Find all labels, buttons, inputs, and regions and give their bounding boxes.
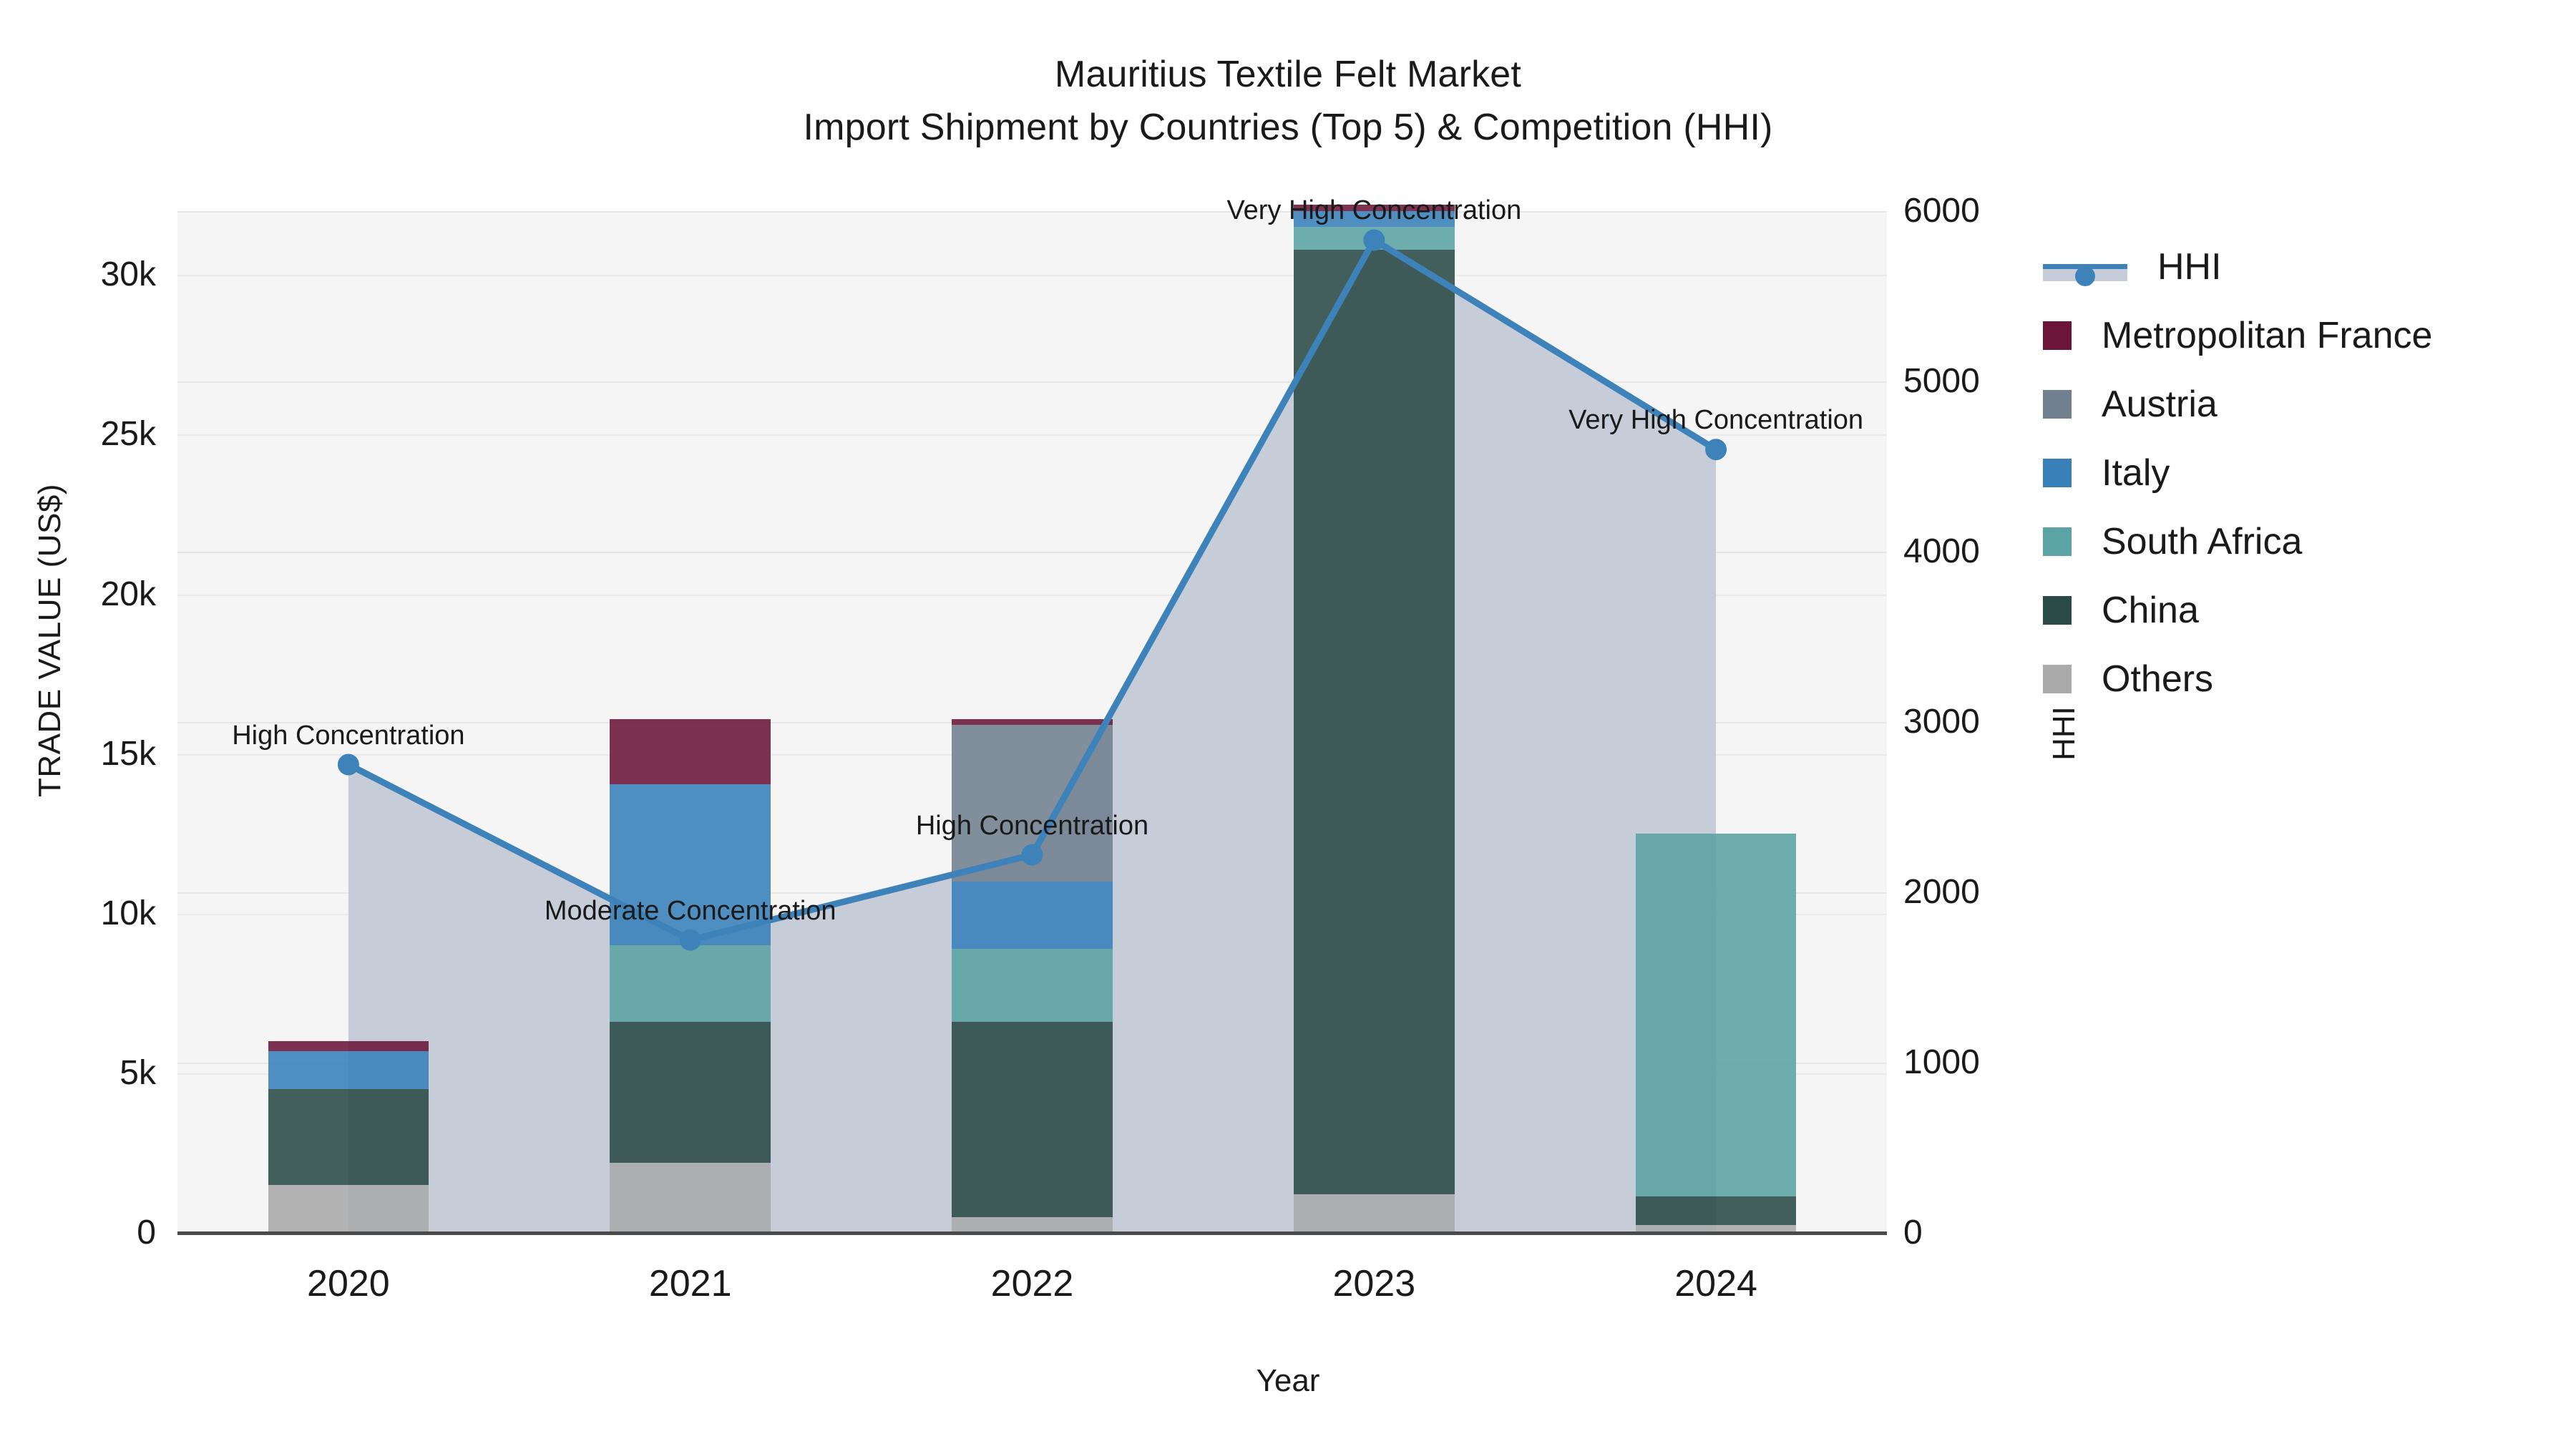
legend-label: Italy [2102, 454, 2170, 492]
bar-segment-austria-2022[interactable] [952, 725, 1113, 882]
legend-item-hhi[interactable]: HHI [2043, 233, 2432, 301]
annotation-2023: Very High Concentration [1226, 195, 1521, 226]
annotation-2024: Very High Concentration [1568, 405, 1863, 436]
x-axis-label: Year [0, 1363, 2576, 1399]
y-tick-left-0: 0 [6, 1216, 156, 1250]
y-tick-left-5k: 5k [6, 1056, 156, 1091]
bar-segment-italy-2022[interactable] [952, 882, 1113, 949]
legend-label: Metropolitan France [2102, 317, 2432, 354]
bar-segment-china-2022[interactable] [952, 1022, 1113, 1216]
x-tick-2024: 2024 [1609, 1265, 1823, 1302]
y-tick-right-1000: 1000 [1903, 1045, 1980, 1080]
y-tick-right-0: 0 [1903, 1216, 1923, 1250]
chart-title: Mauritius Textile Felt Market Import Shi… [0, 49, 2576, 155]
x-tick-2020: 2020 [241, 1265, 456, 1302]
annotation-2022: High Concentration [916, 811, 1148, 841]
legend-label: South Africa [2102, 523, 2302, 560]
bar-segment-south-africa-2024[interactable] [1636, 834, 1797, 1196]
bar-segment-south-africa-2022[interactable] [952, 949, 1113, 1023]
title-line-1: Mauritius Textile Felt Market [0, 49, 2576, 102]
x-tick-2021: 2021 [583, 1265, 798, 1302]
y-tick-left-25k: 25k [6, 417, 156, 452]
legend-swatch-icon [2043, 596, 2072, 625]
x-tick-2022: 2022 [925, 1265, 1140, 1302]
legend-label: HHI [2157, 248, 2222, 286]
legend-item-italy[interactable]: Italy [2043, 439, 2432, 507]
x-tick-2023: 2023 [1267, 1265, 1481, 1302]
legend-label: China [2102, 592, 2199, 629]
x-axis-baseline [177, 1231, 1887, 1235]
annotation-2021: Moderate Concentration [545, 896, 836, 927]
title-line-2: Import Shipment by Countries (Top 5) & C… [0, 102, 2576, 155]
legend-item-south-africa[interactable]: South Africa [2043, 507, 2432, 576]
legend-swatch-icon [2043, 459, 2072, 487]
legend-item-others[interactable]: Others [2043, 645, 2432, 713]
legend-item-metropolitan-france[interactable]: Metropolitan France [2043, 301, 2432, 370]
bar-segment-metropolitan-france-2020[interactable] [268, 1041, 429, 1050]
bar-segment-south-africa-2023[interactable] [1294, 227, 1455, 249]
y-tick-right-4000: 4000 [1903, 535, 1980, 569]
bar-segment-china-2024[interactable] [1636, 1196, 1797, 1225]
legend-label: Others [2102, 660, 2213, 698]
y-tick-right-6000: 6000 [1903, 194, 1980, 228]
bar-segment-china-2020[interactable] [268, 1089, 429, 1185]
y-tick-left-30k: 30k [6, 258, 156, 292]
y-tick-right-2000: 2000 [1903, 875, 1980, 909]
bar-segment-others-2022[interactable] [952, 1217, 1113, 1233]
bar-segment-others-2021[interactable] [610, 1163, 771, 1233]
bar-group-2024[interactable] [1636, 211, 1797, 1233]
legend-swatch-icon [2043, 321, 2072, 350]
legend: HHIMetropolitan FranceAustriaItalySouth … [2043, 233, 2432, 713]
bar-segment-metropolitan-france-2021[interactable] [610, 719, 771, 784]
bar-segment-others-2023[interactable] [1294, 1194, 1455, 1233]
legend-swatch-icon [2043, 527, 2072, 556]
legend-swatch-icon [2043, 665, 2072, 693]
y-tick-left-20k: 20k [6, 577, 156, 612]
hhi-line-icon [2043, 253, 2127, 281]
bar-segment-metropolitan-france-2022[interactable] [952, 719, 1113, 726]
y-axis-left-label: TRADE VALUE (US$) [32, 354, 68, 927]
bar-segment-italy-2020[interactable] [268, 1051, 429, 1090]
legend-swatch-icon [2043, 390, 2072, 419]
chart-root: Mauritius Textile Felt Market Import Shi… [0, 0, 2576, 1449]
bar-group-2021[interactable] [610, 211, 771, 1233]
annotation-2020: High Concentration [232, 721, 464, 751]
y-tick-right-5000: 5000 [1903, 364, 1980, 399]
bar-group-2023[interactable] [1294, 211, 1455, 1233]
y-tick-right-3000: 3000 [1903, 705, 1980, 739]
y-tick-left-10k: 10k [6, 897, 156, 931]
bar-segment-china-2021[interactable] [610, 1022, 771, 1162]
bar-group-2022[interactable] [952, 211, 1113, 1233]
bar-segment-south-africa-2021[interactable] [610, 945, 771, 1022]
legend-item-austria[interactable]: Austria [2043, 370, 2432, 439]
y-tick-left-15k: 15k [6, 737, 156, 771]
legend-label: Austria [2102, 386, 2218, 423]
bar-segment-others-2020[interactable] [268, 1185, 429, 1233]
bar-segment-china-2023[interactable] [1294, 250, 1455, 1195]
legend-item-china[interactable]: China [2043, 576, 2432, 645]
